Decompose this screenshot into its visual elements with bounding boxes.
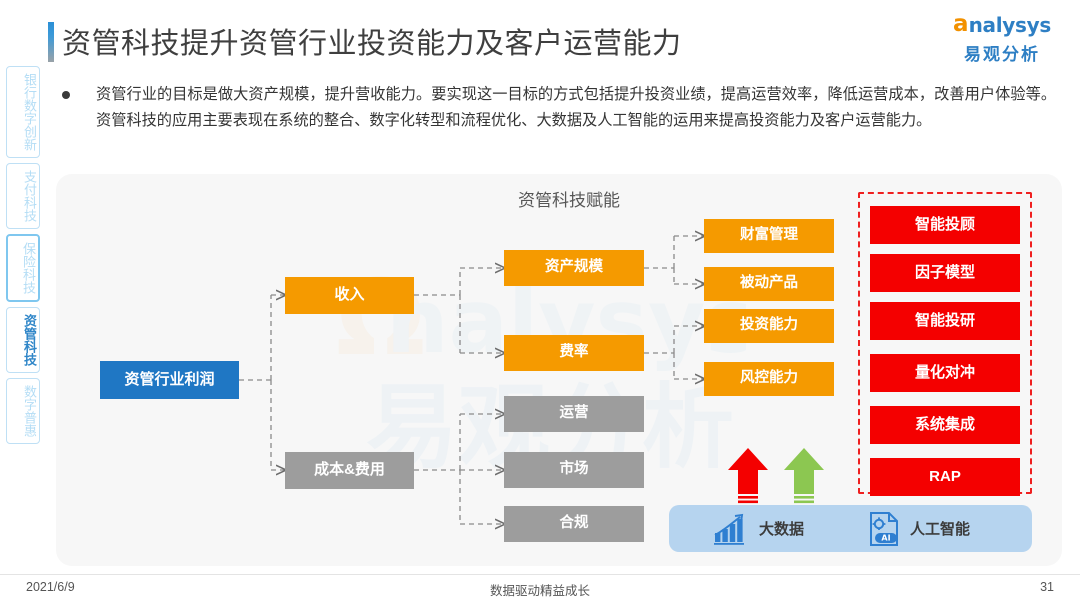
node-asset-scale[interactable]: 资产规模: [504, 250, 644, 286]
bullet-text: 资管行业的目标是做大资产规模，提升营收能力。要实现这一目标的方式包括提升投资业绩…: [96, 82, 1056, 134]
node-fee-rate[interactable]: 费率: [504, 335, 644, 371]
diagram-card: Ω nalysys 易观分析 资管科技赋能: [56, 174, 1062, 566]
sidebar-item-insurance[interactable]: 保险科技: [6, 234, 40, 302]
diagram-title-text: 资管科技赋能: [518, 191, 620, 210]
analysys-logo: a nalysys 易观分析: [942, 12, 1062, 64]
node-passive-products[interactable]: 被动产品: [704, 267, 834, 301]
node-operations[interactable]: 运营: [504, 396, 644, 432]
green-up-arrow: [781, 446, 827, 508]
node-cost-expense[interactable]: 成本&费用: [285, 452, 414, 489]
svg-text:Ω: Ω: [336, 257, 425, 379]
node-wealth-management[interactable]: 财富管理: [704, 219, 834, 253]
ai-document-icon: AI: [868, 511, 900, 547]
node-rap[interactable]: RAP: [870, 458, 1020, 496]
page-title: 资管科技提升资管行业投资能力及客户运营能力: [62, 20, 682, 62]
node-market[interactable]: 市场: [504, 452, 644, 488]
footer-page-number: 31: [1040, 580, 1054, 594]
node-system-integration[interactable]: 系统集成: [870, 406, 1020, 444]
body-bullet: 资管行业的目标是做大资产规模，提升营收能力。要实现这一目标的方式包括提升投资业绩…: [62, 82, 1062, 134]
logo-chinese-name: 易观分析: [942, 40, 1062, 65]
sidebar-item-payment[interactable]: 支付科技: [6, 163, 40, 229]
node-risk-control-capability[interactable]: 风控能力: [704, 362, 834, 396]
title-accent-bar: [48, 22, 54, 62]
slide-root: 资管科技提升资管行业投资能力及客户运营能力 a nalysys 易观分析 银行数…: [0, 0, 1080, 608]
bullet-dot-icon: [62, 91, 70, 99]
sidebar-item-banking[interactable]: 银行数字创新: [6, 66, 40, 158]
tech-item-big-data[interactable]: 大数据: [713, 513, 804, 545]
node-factor-model[interactable]: 因子模型: [870, 254, 1020, 292]
tech-label-ai: 人工智能: [910, 518, 970, 539]
node-investment-capability[interactable]: 投资能力: [704, 309, 834, 343]
logo-a-icon: a: [953, 13, 969, 36]
sidebar-item-inclusive-finance[interactable]: 数字普惠: [6, 378, 40, 444]
node-compliance[interactable]: 合规: [504, 506, 644, 542]
sidebar-nav[interactable]: 银行数字创新 支付科技 保险科技 资管科技 数字普惠: [6, 66, 40, 444]
node-robo-advisor[interactable]: 智能投顾: [870, 206, 1020, 244]
svg-text:AI: AI: [881, 533, 890, 542]
node-smart-research[interactable]: 智能投研: [870, 302, 1020, 340]
footer-divider: [0, 574, 1080, 575]
red-up-arrow: [725, 446, 771, 508]
enabling-tech-bar: 大数据 AI 人工智能: [669, 505, 1032, 552]
logo-word: nalysys: [969, 15, 1051, 35]
node-root-profit[interactable]: 资管行业利润: [100, 361, 239, 399]
sidebar-item-asset-management[interactable]: 资管科技: [6, 307, 40, 373]
tech-label-big-data: 大数据: [759, 518, 804, 539]
tech-item-ai[interactable]: AI 人工智能: [868, 511, 970, 547]
footer-tagline: 数据驱动精益成长: [0, 580, 1080, 599]
logo-wordmark: a nalysys: [942, 12, 1062, 38]
slide-footer: 2021/6/9 数据驱动精益成长 31: [0, 578, 1080, 604]
node-quant-hedging[interactable]: 量化对冲: [870, 354, 1020, 392]
node-revenue[interactable]: 收入: [285, 277, 414, 314]
bar-chart-icon: [713, 513, 749, 545]
